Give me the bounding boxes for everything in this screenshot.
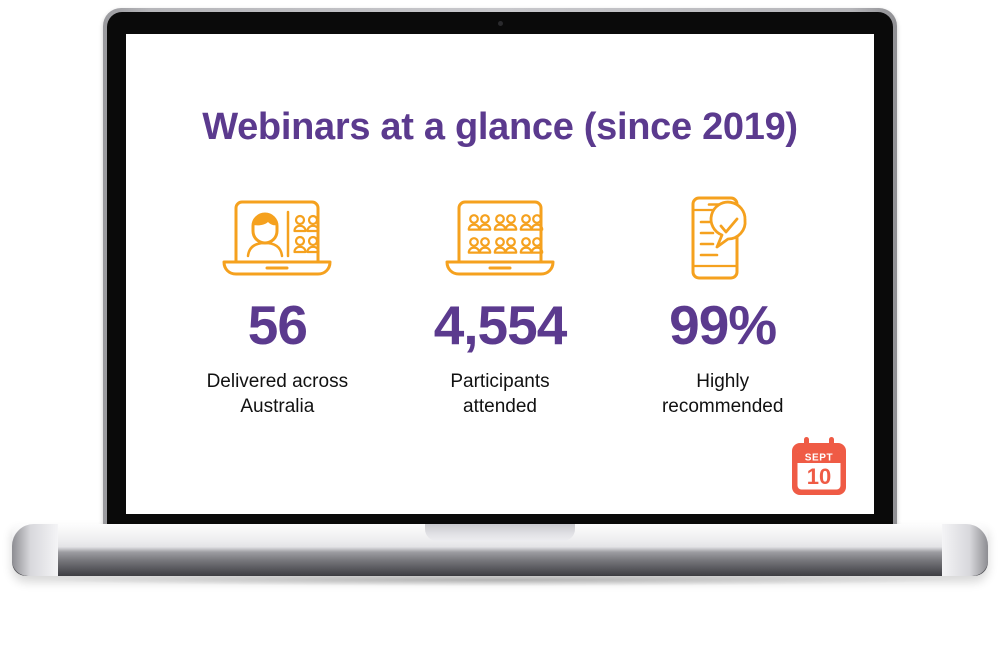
stat-label: Highly recommended [662, 369, 783, 419]
phone-survey-check-icon [673, 192, 773, 284]
page-title: Webinars at a glance (since 2019) [126, 106, 874, 149]
webcam-dot-icon [498, 21, 503, 26]
laptop-base-left-cap [12, 524, 58, 576]
stats-row: 56 Delivered across Australia [166, 192, 834, 419]
stat-card-participants: 4,554 Participants attended [389, 192, 612, 419]
stat-label-line2: Australia [240, 396, 314, 417]
stat-card-recommended: 99% Highly recommended [611, 192, 834, 419]
laptop-lid: Webinars at a glance (since 2019) [103, 8, 897, 530]
laptop-base-notch [425, 524, 575, 541]
laptop-screen: Webinars at a glance (since 2019) [126, 34, 874, 514]
stat-label-line1: Participants [450, 371, 549, 392]
calendar-month-label: SEPT [805, 452, 834, 463]
laptop-bezel: Webinars at a glance (since 2019) [107, 12, 893, 530]
stat-value: 99% [669, 298, 776, 353]
laptop-drop-shadow [48, 574, 952, 586]
stat-label-line2: recommended [662, 396, 783, 417]
stat-label: Delivered across Australia [207, 369, 349, 419]
calendar-day-label: 10 [807, 464, 831, 489]
stat-value: 4,554 [434, 298, 567, 353]
laptop-base-right-cap [942, 524, 988, 576]
stat-label-line2: attended [463, 396, 537, 417]
stat-label-line1: Highly [696, 371, 749, 392]
calendar-icon: SEPT 10 [782, 430, 856, 504]
laptop-base [12, 524, 988, 576]
stat-label: Participants attended [450, 369, 549, 419]
stat-label-line1: Delivered across [207, 371, 349, 392]
screenshot-stage: Webinars at a glance (since 2019) [0, 0, 1000, 661]
laptop-presenter-icon [214, 192, 340, 284]
stat-card-delivered: 56 Delivered across Australia [166, 192, 389, 419]
laptop-participants-grid-icon [437, 192, 563, 284]
stat-value: 56 [248, 298, 307, 353]
